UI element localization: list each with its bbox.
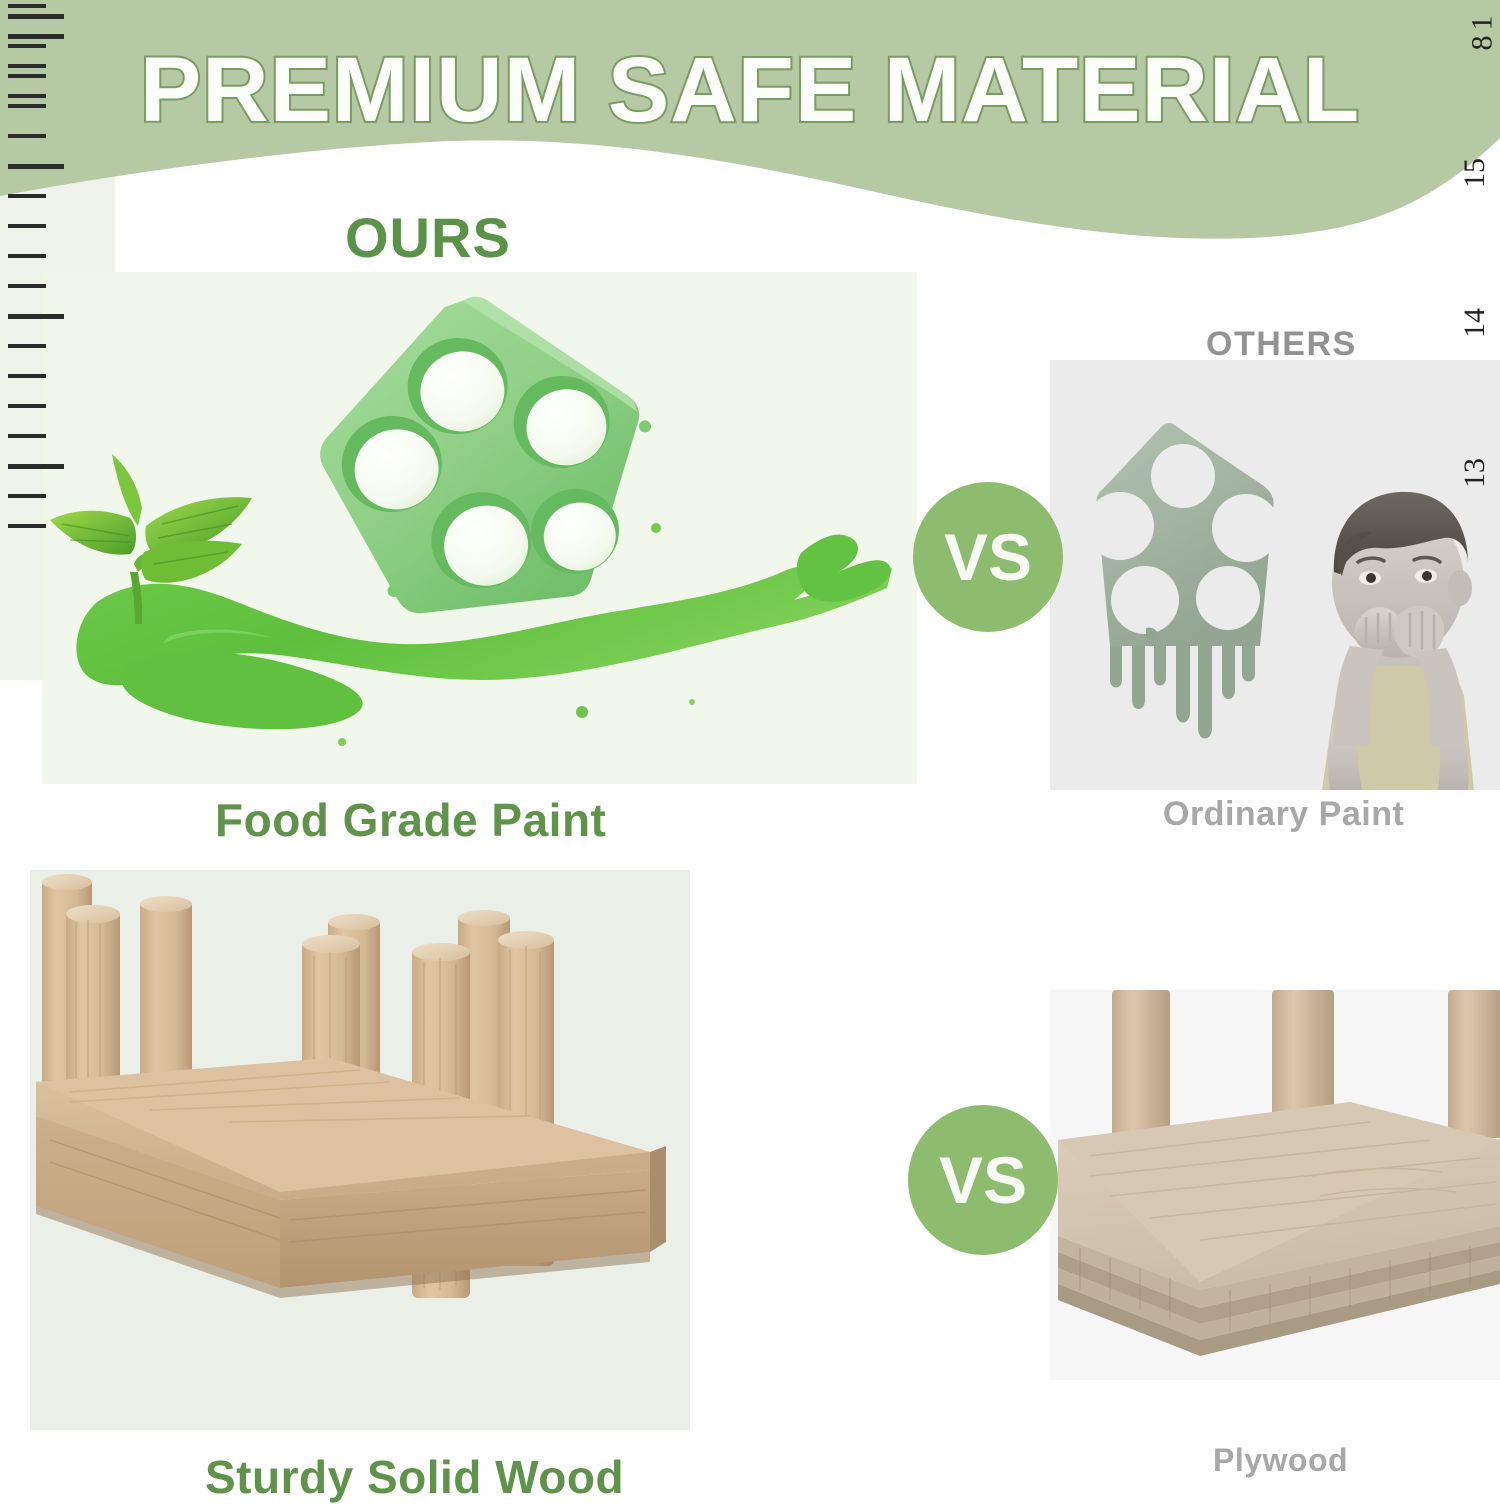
others-label: OTHERS <box>1206 325 1357 364</box>
solid-wood-pegboard-illustration <box>30 870 690 1430</box>
ordinary-paint-illustration <box>1050 360 1500 790</box>
caption-sturdy-solid-wood: Sturdy Solid Wood <box>205 1450 624 1504</box>
ours-wood-image-panel <box>30 870 690 1430</box>
caption-plywood: Plywood <box>1213 1442 1348 1479</box>
ruler-mark: 8 <box>1466 36 1500 51</box>
vs-badge-wood: VS <box>908 1105 1058 1255</box>
header-banner: PREMIUM SAFE MATERIAL <box>0 0 1500 250</box>
vs-badge-paint: VS <box>913 482 1063 632</box>
others-plywood-image-panel <box>1050 990 1500 1380</box>
ruler-mark: 14 <box>1458 308 1492 338</box>
others-paint-image-panel <box>1050 360 1500 790</box>
caption-food-grade-paint: Food Grade Paint <box>215 793 606 847</box>
caption-ordinary-paint: Ordinary Paint <box>1163 795 1404 834</box>
page-title: PREMIUM SAFE MATERIAL <box>0 38 1500 143</box>
ruler-mark: 1 <box>1466 16 1500 31</box>
infographic-page: PREMIUM SAFE MATERIAL OURS OTHERS <box>0 0 1500 1500</box>
ruler-mark: 13 <box>1458 458 1492 488</box>
ruler-mark: 15 <box>1458 158 1492 188</box>
food-grade-paint-illustration <box>42 272 917 784</box>
ours-paint-image-panel <box>42 272 917 784</box>
green-pentagon-board <box>301 275 673 628</box>
ours-label: OURS <box>345 205 511 270</box>
plywood-illustration <box>1050 990 1500 1380</box>
